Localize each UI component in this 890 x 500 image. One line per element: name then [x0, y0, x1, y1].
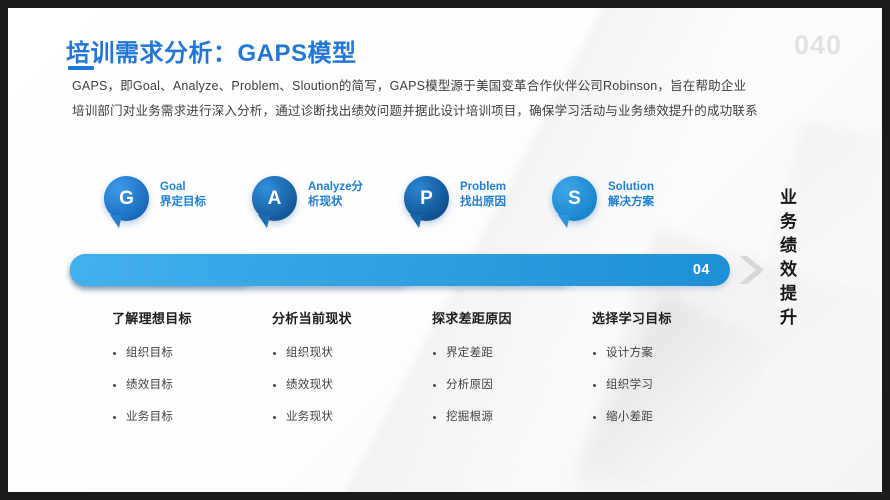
stage-column-item: 组织学习 [592, 377, 752, 393]
stage-column-title: 探求差距原因 [432, 308, 592, 327]
bubble-caption-en: Solution [608, 180, 694, 195]
page-number: 040 [794, 30, 842, 61]
stage-column-2: 分析当前现状组织现状绩效现状业务现状 [272, 308, 432, 441]
stage-column-item: 绩效现状 [272, 377, 432, 393]
bubble-caption-cn: 界定目标 [160, 195, 246, 210]
bubble-caption-en: Goal [160, 180, 246, 195]
bubble-letter-badge: P [404, 176, 449, 221]
stage-column-item: 设计方案 [592, 345, 752, 361]
stage-column-title: 选择学习目标 [592, 308, 752, 327]
outcome-char: 效 [776, 258, 802, 282]
bubble-caption-en: Problem [460, 180, 546, 195]
gaps-bubble-a[interactable]: AAnalyze分析现状 [252, 176, 394, 221]
stage-column-3: 探求差距原因界定差距分析原因挖掘根源 [432, 308, 592, 441]
page-title: 培训需求分析：GAPS模型 [66, 33, 357, 68]
bubble-letter-badge: S [552, 176, 597, 221]
stage-column-item: 界定差距 [432, 345, 592, 361]
bubble-caption: Problem找出原因 [460, 176, 546, 210]
gaps-bubble-s[interactable]: SSolution解决方案 [552, 176, 694, 221]
slide-canvas: 040 培训需求分析：GAPS模型 GAPS，即Goal、Analyze、Pro… [8, 8, 882, 492]
stage-column-item: 业务现状 [272, 409, 432, 425]
bubble-letter-badge: G [104, 176, 149, 221]
bubble-caption: Analyze分析现状 [308, 176, 394, 210]
intro-line-2: 培训部门对业务需求进行深入分析，通过诊断找出绩效问题并据此设计培训项目，确保学习… [72, 99, 862, 124]
stage-column-1: 了解理想目标组织目标绩效目标业务目标 [112, 308, 272, 441]
bubble-caption: Goal界定目标 [160, 176, 246, 210]
gaps-bubble-g[interactable]: GGoal界定目标 [104, 176, 246, 221]
bubble-caption-en: Analyze分 [308, 180, 394, 195]
bubble-caption: Solution解决方案 [608, 176, 694, 210]
stage-segment-04[interactable]: 04 [70, 254, 730, 286]
outcome-vertical-label: 业务绩效提升 [776, 186, 802, 330]
chevron-right-icon [736, 254, 766, 286]
intro-line-1: GAPS，即Goal、Analyze、Problem、Sloution的简写，G… [72, 74, 862, 99]
outcome-char: 绩 [776, 234, 802, 258]
outcome-char: 务 [776, 210, 802, 234]
intro-paragraph: GAPS，即Goal、Analyze、Problem、Sloution的简写，G… [72, 74, 862, 124]
stage-column-item: 组织目标 [112, 345, 272, 361]
stage-progress-bar: 04030201 [70, 254, 730, 286]
outcome-char: 业 [776, 186, 802, 210]
stage-column-item: 分析原因 [432, 377, 592, 393]
gaps-bubble-row: GGoal界定目标AAnalyze分析现状PProblem找出原因SSoluti… [104, 176, 724, 242]
stage-column-item: 业务目标 [112, 409, 272, 425]
outcome-char: 升 [776, 306, 802, 330]
bubble-caption-cn: 找出原因 [460, 195, 546, 210]
stage-column-title: 了解理想目标 [112, 308, 272, 327]
title-underline-rule [68, 66, 94, 70]
bubble-caption-cn: 解决方案 [608, 195, 694, 210]
stage-detail-columns: 了解理想目标组织目标绩效目标业务目标分析当前现状组织现状绩效现状业务现状探求差距… [112, 308, 752, 441]
stage-column-item: 组织现状 [272, 345, 432, 361]
stage-column-title: 分析当前现状 [272, 308, 432, 327]
gaps-bubble-p[interactable]: PProblem找出原因 [404, 176, 546, 221]
stage-column-item: 挖掘根源 [432, 409, 592, 425]
stage-column-4: 选择学习目标设计方案组织学习缩小差距 [592, 308, 752, 441]
stage-column-item: 缩小差距 [592, 409, 752, 425]
stage-column-item: 绩效目标 [112, 377, 272, 393]
bubble-letter-badge: A [252, 176, 297, 221]
outcome-char: 提 [776, 282, 802, 306]
bubble-caption-cn: 析现状 [308, 195, 394, 210]
